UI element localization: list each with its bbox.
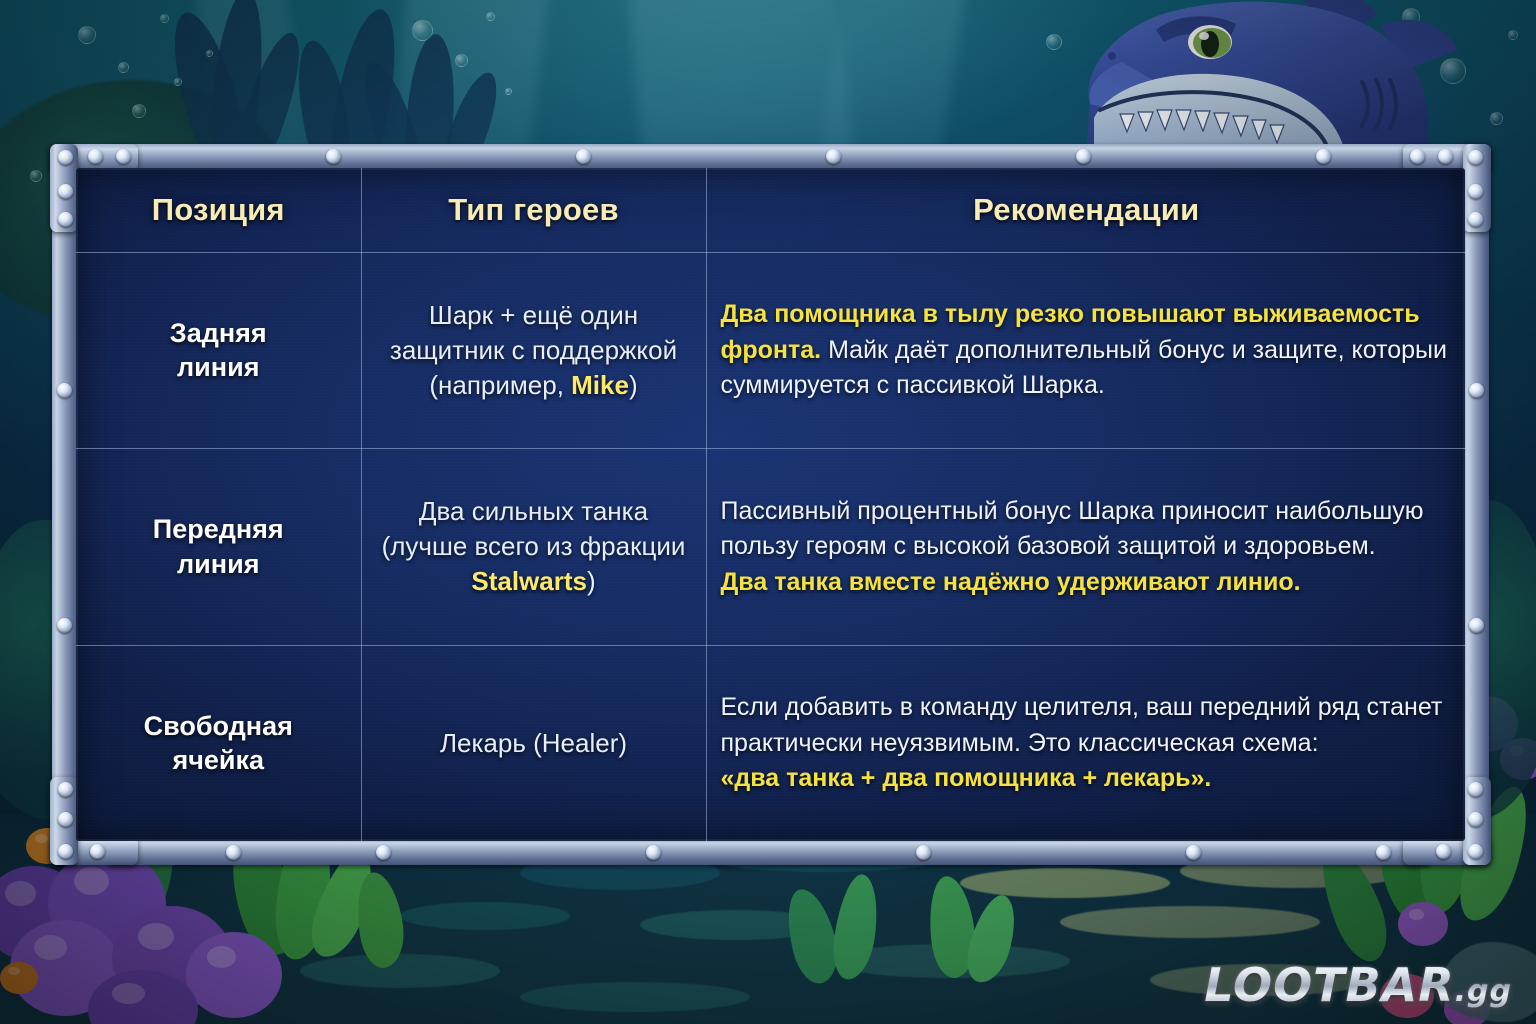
recommendations-table: Позиция Тип героев Рекомендации Задняя л…	[76, 168, 1465, 841]
lootbar-logo[interactable]: LOOTBAR.gg	[1204, 958, 1512, 1012]
hero-type-highlight: Stalwarts	[471, 566, 587, 596]
cell-position: Задняя линия	[76, 252, 361, 449]
position-line-1: Задняя	[170, 318, 267, 348]
position-line-2: ячейка	[172, 745, 264, 775]
cell-position: Свободная ячейка	[76, 645, 361, 841]
cell-position: Передняя линия	[76, 449, 361, 646]
frame-bar-right	[1463, 200, 1489, 843]
hero-type-text-tail: )	[629, 370, 638, 400]
table-row: Свободная ячейка Лекарь (Healer) Если до…	[76, 645, 1465, 841]
recommendation-text: Пассивный процентный бонус Шарка приноси…	[721, 497, 1424, 561]
recommendation-text: Майк даёт дополнительный бонус и защите,…	[721, 336, 1447, 400]
logo-suffix-text: .gg	[1455, 974, 1512, 1009]
table-inner-panel: Позиция Тип героев Рекомендации Задняя л…	[76, 168, 1465, 841]
cell-recommendation: Пассивный процентный бонус Шарка приноси…	[706, 449, 1465, 646]
position-line-1: Передняя	[153, 514, 284, 544]
table-header-row: Позиция Тип героев Рекомендации	[76, 168, 1465, 252]
cell-hero-type: Лекарь (Healer)	[361, 645, 706, 841]
table-row: Передняя линия Два сильных танка (лучше …	[76, 449, 1465, 646]
position-line-2: линия	[177, 352, 259, 382]
position-line-1: Свободная	[144, 711, 293, 741]
position-line-2: линия	[177, 549, 259, 579]
cell-hero-type: Шарк + ещё один защитник с поддержкой (н…	[361, 252, 706, 449]
frame-bar-left	[52, 200, 78, 843]
table-row: Задняя линия Шарк + ещё один защитник с …	[76, 252, 1465, 449]
column-header-position: Позиция	[76, 168, 361, 252]
frame-bar-bottom	[108, 839, 1431, 865]
recommendation-highlight: «два танка + два помощника + лекарь».	[721, 764, 1212, 792]
cell-recommendation: Если добавить в команду целителя, ваш пе…	[706, 645, 1465, 841]
hero-type-text-tail: )	[587, 566, 596, 596]
scene-root: Позиция Тип героев Рекомендации Задняя л…	[0, 0, 1536, 1024]
frame-bar-top	[108, 144, 1431, 170]
column-header-recommendations: Рекомендации	[706, 168, 1465, 252]
table-frame-panel: Позиция Тип героев Рекомендации Задняя л…	[46, 138, 1493, 865]
recommendation-text: Если добавить в команду целителя, ваш пе…	[721, 693, 1443, 757]
logo-main-text: LOOTBAR	[1204, 958, 1454, 1012]
cell-hero-type: Два сильных танка (лучше всего из фракци…	[361, 449, 706, 646]
hero-type-text: Лекарь (Healer)	[440, 728, 627, 758]
recommendation-highlight: Два танка вместе надёжно удерживают лини…	[721, 568, 1301, 596]
cell-recommendation: Два помощника в тылу резко повышают выжи…	[706, 252, 1465, 449]
column-header-hero-type: Тип героев	[361, 168, 706, 252]
hero-type-text: Два сильных танка (лучше всего из фракци…	[382, 496, 686, 561]
hero-type-highlight: Mike	[571, 370, 629, 400]
